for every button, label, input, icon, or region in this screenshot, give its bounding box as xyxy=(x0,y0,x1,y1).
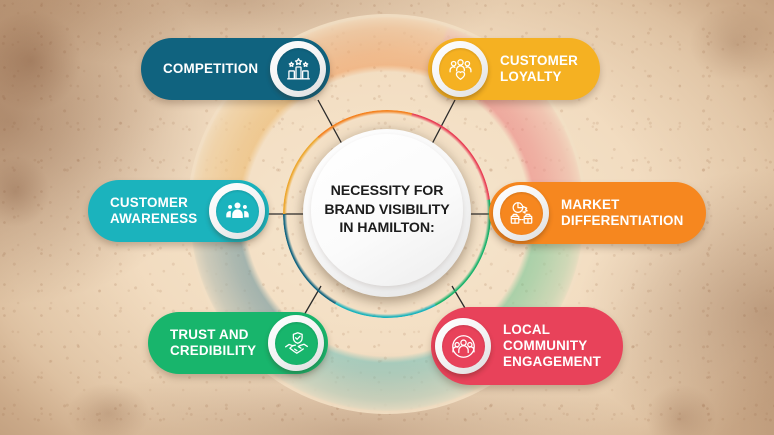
node-local-community-line-2: COMMUNITY xyxy=(503,338,601,354)
people-heart-icon xyxy=(448,57,473,82)
node-market-differentiation-line-2: DIFFERENTIATION xyxy=(561,213,684,229)
badge-core xyxy=(439,48,482,91)
handshake-shield-icon xyxy=(284,331,309,356)
node-market-differentiation-badge xyxy=(493,185,549,241)
node-trust-line-1: TRUST AND xyxy=(170,327,256,343)
node-local-community-engagement-label: LOCAL COMMUNITY ENGAGEMENT xyxy=(503,322,601,369)
badge-core xyxy=(442,325,485,368)
pie-chart-shops-icon xyxy=(509,201,534,226)
badge-core xyxy=(275,322,318,365)
node-customer-awareness-line-1: CUSTOMER xyxy=(110,195,197,211)
node-competition-line-1: COMPETITION xyxy=(163,61,258,77)
node-customer-loyalty-label: CUSTOMER LOYALTY xyxy=(500,53,578,85)
badge-core xyxy=(277,48,320,91)
node-trust-and-credibility-badge xyxy=(268,315,324,371)
node-customer-awareness-line-2: AWARENESS xyxy=(110,211,197,227)
node-competition-label: COMPETITION xyxy=(163,61,258,77)
node-customer-loyalty[interactable]: CUSTOMER LOYALTY xyxy=(428,38,600,100)
node-competition-badge xyxy=(270,41,326,97)
infographic-canvas: NECESSITY FOR BRAND VISIBILITY IN HAMILT… xyxy=(0,0,774,435)
node-local-community-line-1: LOCAL xyxy=(503,322,601,338)
badge-core xyxy=(500,192,543,235)
node-customer-awareness[interactable]: CUSTOMER AWARENESS xyxy=(88,180,269,242)
node-customer-awareness-label: CUSTOMER AWARENESS xyxy=(110,195,197,227)
node-trust-and-credibility[interactable]: TRUST AND CREDIBILITY xyxy=(148,312,328,374)
node-local-community-engagement[interactable]: LOCAL COMMUNITY ENGAGEMENT xyxy=(431,307,623,385)
node-trust-line-2: CREDIBILITY xyxy=(170,343,256,359)
center-title-line-2: BRAND VISIBILITY xyxy=(324,201,449,220)
three-people-icon xyxy=(225,199,250,224)
node-local-community-line-3: ENGAGEMENT xyxy=(503,354,601,370)
center-title-line-3: IN HAMILTON: xyxy=(324,219,449,238)
node-customer-loyalty-badge xyxy=(432,41,488,97)
node-customer-loyalty-line-2: LOYALTY xyxy=(500,69,578,85)
node-local-community-engagement-badge xyxy=(435,318,491,374)
node-customer-loyalty-line-1: CUSTOMER xyxy=(500,53,578,69)
center-title-line-1: NECESSITY FOR xyxy=(324,182,449,201)
node-market-differentiation-label: MARKET DIFFERENTIATION xyxy=(561,197,684,229)
page-title: NECESSITY FOR BRAND VISIBILITY IN HAMILT… xyxy=(316,182,457,238)
badge-core xyxy=(216,190,259,233)
node-competition[interactable]: COMPETITION xyxy=(141,38,330,100)
node-market-differentiation[interactable]: MARKET DIFFERENTIATION xyxy=(489,182,706,244)
podium-winner-icon xyxy=(286,57,311,82)
node-market-differentiation-line-1: MARKET xyxy=(561,197,684,213)
community-group-icon xyxy=(451,334,476,359)
node-customer-awareness-badge xyxy=(209,183,265,239)
center-hub: NECESSITY FOR BRAND VISIBILITY IN HAMILT… xyxy=(311,134,463,286)
node-trust-and-credibility-label: TRUST AND CREDIBILITY xyxy=(170,327,256,359)
